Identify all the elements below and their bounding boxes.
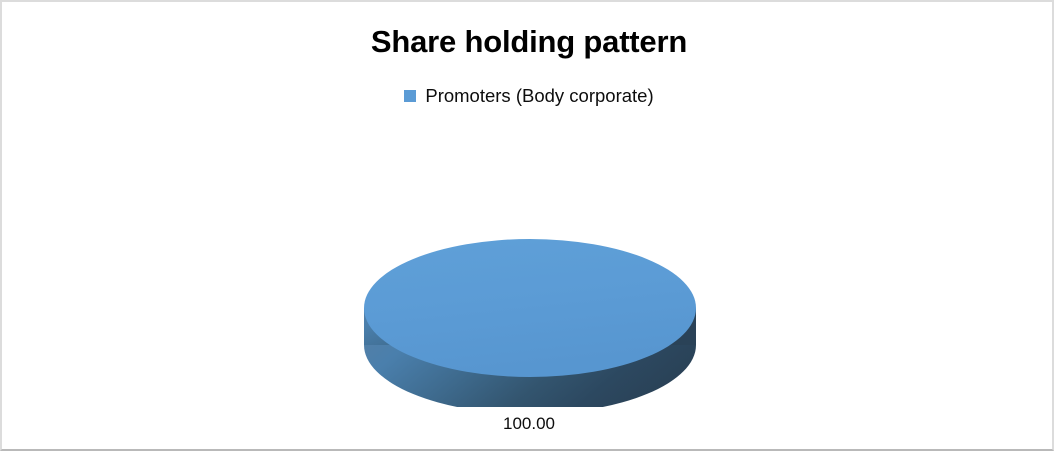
chart-container: Share holding pattern Promoters (Body co… (0, 0, 1054, 451)
plot-area: 100.00 (2, 2, 1054, 451)
pie-data-label: 100.00 (2, 413, 1054, 435)
pie-3d-graphic (354, 202, 710, 407)
pie-slice-promoters-top[interactable] (364, 239, 696, 377)
